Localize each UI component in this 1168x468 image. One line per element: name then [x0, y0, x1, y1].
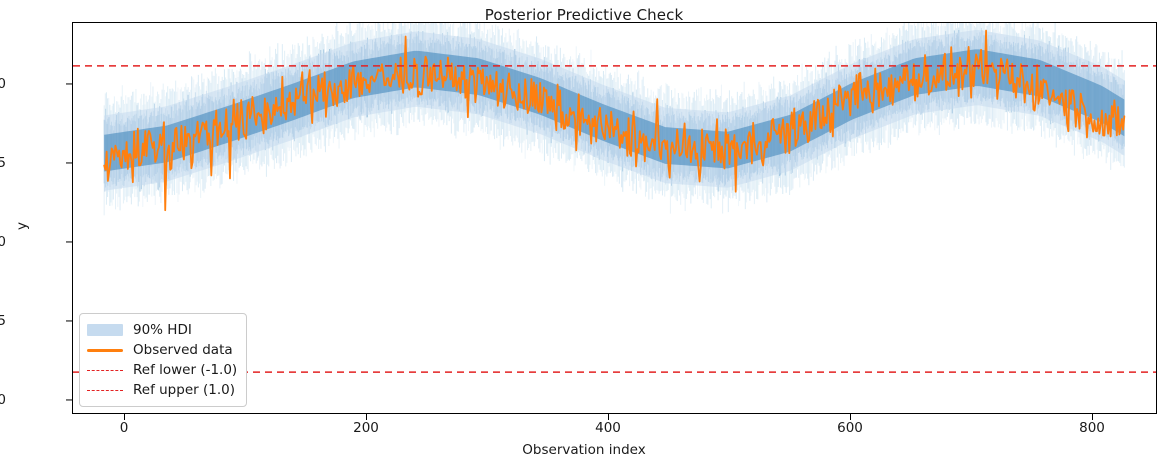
y-tick-label: 0.0	[0, 234, 6, 250]
figure-canvas: Posterior Predictive Check y Observation…	[0, 0, 1168, 468]
legend-item-ref-upper: Ref upper (1.0)	[87, 380, 237, 400]
legend-swatch-ref-lower	[87, 363, 123, 377]
x-tick-label: 0	[89, 420, 159, 436]
y-axis-label: y	[14, 196, 30, 256]
legend-label: 90% HDI	[133, 320, 192, 340]
legend-label: Ref lower (-1.0)	[133, 360, 237, 380]
x-tick-label: 200	[331, 420, 401, 436]
legend-item-hdi: 90% HDI	[87, 320, 237, 340]
legend-label: Observed data	[133, 340, 233, 360]
y-tick-label: −1.0	[0, 392, 6, 408]
x-tick-label: 400	[573, 420, 643, 436]
x-tick-label: 800	[1057, 420, 1127, 436]
legend-swatch-observed	[87, 343, 123, 357]
legend: 90% HDI Observed data Ref lower (-1.0) R…	[79, 313, 247, 407]
y-tick-label: 1.0	[0, 76, 6, 92]
legend-label: Ref upper (1.0)	[133, 380, 235, 400]
legend-swatch-hdi	[87, 323, 123, 337]
legend-swatch-ref-upper	[87, 383, 123, 397]
y-tick-label: 0.5	[0, 155, 6, 171]
legend-item-ref-lower: Ref lower (-1.0)	[87, 360, 237, 380]
x-tick-label: 600	[815, 420, 885, 436]
legend-item-observed: Observed data	[87, 340, 237, 360]
y-tick-label: −0.5	[0, 313, 6, 329]
x-axis-label: Observation index	[0, 442, 1168, 458]
